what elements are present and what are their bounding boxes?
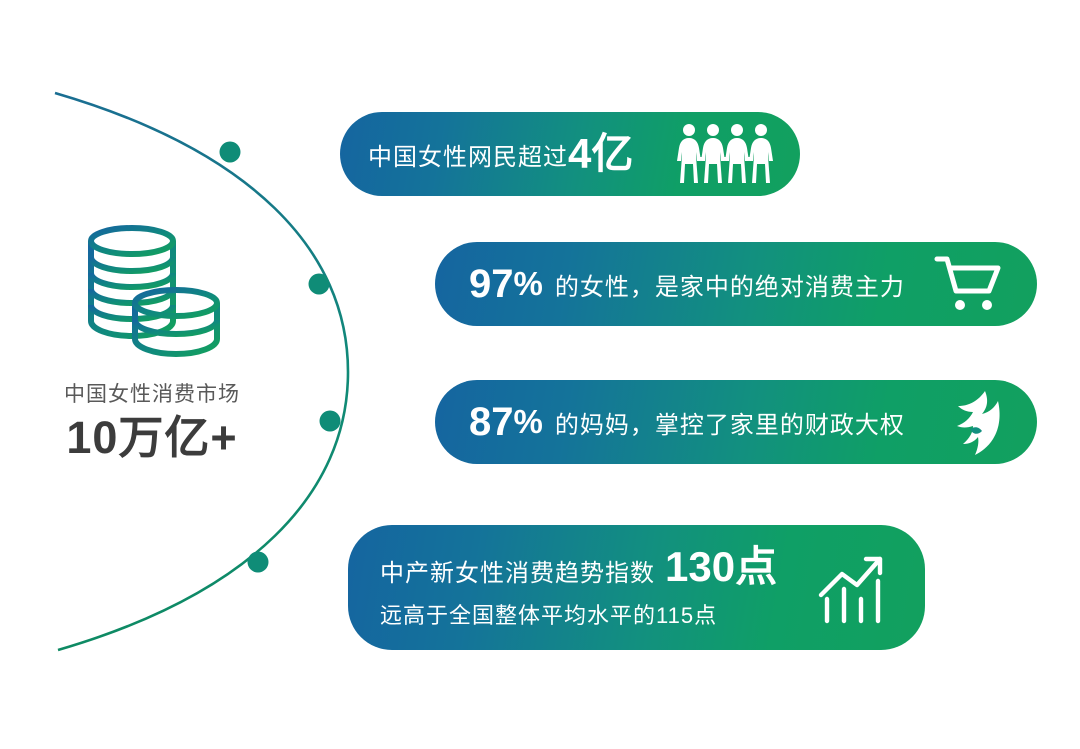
stat-1-value: 4亿 — [568, 133, 633, 175]
stat-pill-4-text: 中产新女性消费趋势指数 130点 远高于全国整体平均水平的115点 — [380, 546, 817, 630]
female-flame-icon — [945, 389, 1009, 455]
stat-3-label: 的妈妈，掌控了家里的财政大权 — [555, 405, 905, 440]
stat-2-value: 97 — [469, 264, 514, 304]
market-summary: 中国女性消费市场 10万亿+ — [18, 222, 286, 463]
stat-pill-mothers-finance[interactable]: 87 % 的妈妈，掌控了家里的财政大权 — [435, 380, 1037, 464]
stat-4-line1: 中产新女性消费趋势指数 130点 — [380, 546, 777, 588]
stat-4-value: 130点 — [665, 546, 777, 588]
connector-node-4[interactable] — [248, 552, 269, 573]
stat-3-value: 87 — [469, 402, 514, 442]
stat-2-percent-sign: % — [514, 265, 543, 303]
stat-3-percent-sign: % — [514, 403, 543, 441]
infographic-canvas: 中国女性消费市场 10万亿+ 中国女性网民超过 4亿 — [0, 0, 1080, 749]
connector-node-3[interactable] — [320, 411, 341, 432]
stat-4-label: 中产新女性消费趋势指数 — [380, 553, 655, 588]
stat-pill-trend-index[interactable]: 中产新女性消费趋势指数 130点 远高于全国整体平均水平的115点 — [348, 525, 925, 650]
stat-1-label: 中国女性网民超过 — [368, 137, 568, 172]
stat-pill-2-text: 97 % 的女性，是家中的绝对消费主力 — [469, 264, 933, 304]
connector-node-1[interactable] — [220, 142, 241, 163]
stat-pill-internet-users[interactable]: 中国女性网民超过 4亿 — [340, 112, 800, 196]
growth-chart-icon — [817, 551, 895, 625]
stat-pill-1-text: 中国女性网民超过 4亿 — [368, 133, 676, 175]
stat-pill-3-text: 87 % 的妈妈，掌控了家里的财政大权 — [469, 402, 945, 442]
coin-stack-icon — [77, 222, 227, 362]
connector-node-2[interactable] — [309, 274, 330, 295]
stat-2-label: 的女性，是家中的绝对消费主力 — [555, 267, 905, 302]
shopping-cart-icon — [933, 253, 1009, 315]
stat-4-line2: 远高于全国整体平均水平的115点 — [380, 598, 717, 630]
market-value: 10万亿+ — [18, 413, 286, 463]
market-caption: 中国女性消费市场 — [18, 382, 286, 407]
stat-pill-female-spenders[interactable]: 97 % 的女性，是家中的绝对消费主力 — [435, 242, 1037, 326]
four-women-icon — [676, 123, 774, 185]
